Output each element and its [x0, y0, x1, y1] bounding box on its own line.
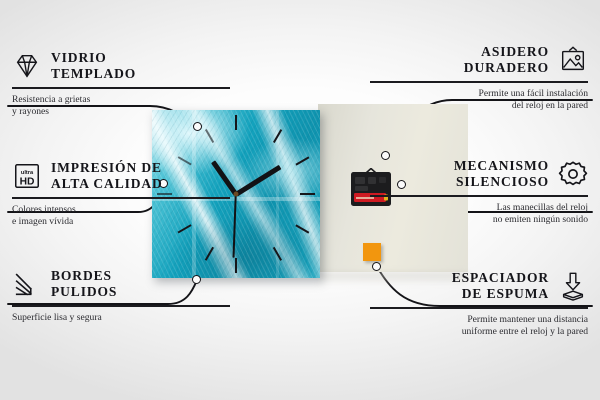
polished-edges-icon [12, 269, 42, 299]
clock-tick [300, 193, 315, 196]
feature-asidero-duradero: ASIDERO DURADERO Permite una fácil insta… [370, 44, 588, 113]
feature-mecanismo-silencioso: MECANISMO SILENCIOSO Las manecillas del … [370, 158, 588, 227]
feature-title: MECANISMO SILENCIOSO [454, 158, 549, 191]
feature-divider [370, 307, 588, 309]
feature-description: Permite una fácil instalación del reloj … [370, 88, 588, 113]
feature-divider [12, 87, 230, 89]
clock-center-hub [234, 192, 239, 197]
picture-hanger-icon [558, 45, 588, 75]
feature-description: Las manecillas del reloj no emiten ningú… [370, 202, 588, 227]
feature-description: Resistencia a grietas y rayones [12, 94, 230, 119]
feature-title: ASIDERO DURADERO [464, 44, 549, 77]
feature-bordes-pulidos: BORDES PULIDOS Superficie lisa y segura [12, 268, 230, 324]
connector-dot-vidrio-templado [193, 122, 202, 131]
diamond-icon [12, 51, 42, 81]
feature-title: BORDES PULIDOS [51, 268, 117, 301]
feature-divider [12, 305, 230, 307]
clock-tick [235, 258, 237, 273]
feature-espaciador-de-espuma: ESPACIADOR DE ESPUMA Permite mantener un… [370, 270, 588, 339]
feature-description: Permite mantener una distancia uniforme … [370, 314, 588, 339]
clock-tick [235, 115, 237, 130]
feature-description: Colores intensos e imagen vívida [12, 204, 230, 229]
feature-vidrio-templado: VIDRIO TEMPLADO Resistencia a grietas y … [12, 50, 230, 119]
feature-impresion-alta-calidad: ultra HD IMPRESIÓN DE ALTA CALIDAD Color… [12, 160, 230, 229]
feature-divider [370, 195, 588, 197]
feature-divider [12, 197, 230, 199]
gear-icon [558, 159, 588, 189]
feature-title: ESPACIADOR DE ESPUMA [452, 270, 549, 303]
infographic-canvas: VIDRIO TEMPLADO Resistencia a grietas y … [0, 0, 600, 400]
ultra-hd-icon: ultra HD [12, 161, 42, 191]
feature-description: Superficie lisa y segura [12, 312, 230, 325]
feature-title: IMPRESIÓN DE ALTA CALIDAD [51, 160, 163, 193]
svg-text:HD: HD [20, 177, 35, 188]
feature-divider [370, 81, 588, 83]
feature-title: VIDRIO TEMPLADO [51, 50, 136, 83]
foam-spacer-icon [558, 271, 588, 301]
foam-spacer-sample [363, 243, 381, 261]
svg-text:ultra: ultra [21, 171, 34, 177]
